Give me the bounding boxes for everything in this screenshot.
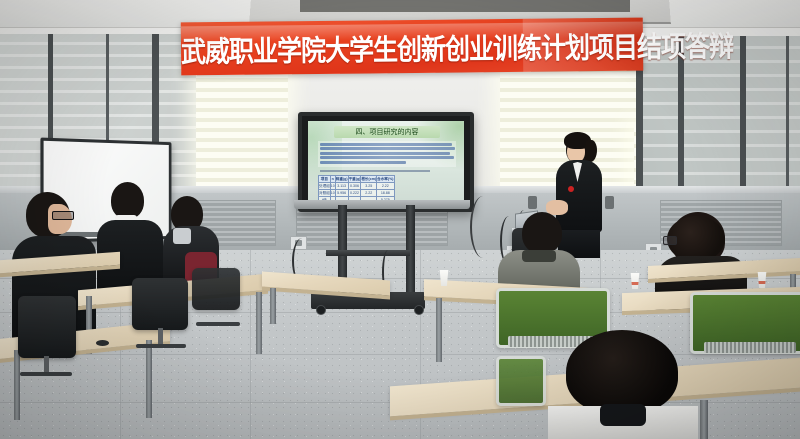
- table-header-cell: 鲜重(g): [335, 176, 348, 183]
- cable-grommet: [96, 340, 109, 346]
- chair-black-left[interactable]: [18, 296, 76, 358]
- chair-black-back[interactable]: [192, 268, 240, 310]
- presenter-ponytail: [585, 140, 597, 162]
- table-cell: 0.222: [348, 190, 361, 197]
- table-row: 处理组 10 3.113 0.306 3.25 2.22: [319, 183, 395, 190]
- table-cell: 2.22: [377, 183, 394, 190]
- table-header-row: 项目 n 鲜重(g) 干重(g) 根长(cm) 含水率(%): [319, 176, 395, 183]
- display-stand-shelf: [326, 250, 410, 256]
- banner-text: 武威职业学院大学生创新创业训练计划项目结项答辩: [181, 25, 643, 71]
- table-cell: 处理组: [319, 183, 331, 190]
- table-cell: 3.113: [335, 183, 348, 190]
- jacket-collar: [173, 228, 191, 244]
- table-cell: 3.25: [361, 183, 377, 190]
- table-cell: 5.956: [335, 190, 348, 197]
- table-leg: [436, 298, 442, 362]
- chair-black-mid[interactable]: [132, 278, 188, 330]
- slide-data-table: 项目 n 鲜重(g) 干重(g) 根长(cm) 含水率(%) 处理组 10 3.…: [318, 175, 395, 203]
- table-leg: [14, 350, 20, 420]
- chair-base: [136, 344, 186, 348]
- caster-wheel: [316, 305, 326, 315]
- table-header-cell: 项目: [319, 176, 331, 183]
- glasses-icon: [663, 236, 677, 245]
- presentation-display[interactable]: 四、项目研究的内容 项目 n 鲜重(g) 干重(g) 根长(cm) 含水率(%): [298, 112, 474, 212]
- head: [522, 212, 562, 254]
- table-leg: [256, 292, 262, 354]
- table-cell: 18.88: [377, 190, 394, 197]
- slide-screen: 四、项目研究的内容 项目 n 鲜重(g) 干重(g) 根长(cm) 含水率(%): [308, 121, 464, 203]
- chair-green-foreground[interactable]: [496, 356, 546, 406]
- caster-wheel: [414, 305, 424, 315]
- person-foreground: [548, 330, 698, 439]
- table-row: 对照组 10 5.956 0.222 2.22 18.88: [319, 190, 395, 197]
- table-header-cell: 干重(g): [348, 176, 361, 183]
- ceiling-recess: [300, 0, 630, 12]
- speaker: [528, 196, 537, 209]
- chair-base: [196, 322, 240, 326]
- jacket-collar: [522, 250, 556, 262]
- chair-base: [20, 372, 72, 376]
- table-cell: 2.22: [361, 190, 377, 197]
- slide-body-text: [318, 141, 456, 167]
- table-leg: [700, 400, 708, 439]
- head: [111, 182, 144, 219]
- av-cable: [470, 196, 496, 258]
- table-leg: [270, 288, 276, 324]
- chair-vent: [704, 342, 796, 353]
- slide-title: 四、项目研究的内容: [334, 126, 440, 138]
- shirt-collar: [600, 404, 646, 426]
- table-cell: 对照组: [319, 190, 331, 197]
- display-bottom-bezel: [294, 200, 470, 209]
- event-banner: 武威职业学院大学生创新创业训练计划项目结项答辩: [181, 18, 644, 76]
- table-header-cell: 根长(cm): [361, 176, 377, 183]
- table-leg: [146, 340, 152, 418]
- table-cell: 0.306: [348, 183, 361, 190]
- slide-caption-line: [320, 170, 430, 172]
- head: [566, 330, 678, 414]
- table-header-cell: 含水率(%): [377, 176, 394, 183]
- glasses-icon: [52, 211, 74, 220]
- classroom-defense-photo: 武威职业学院大学生创新创业训练计划项目结项答辩 四、项目研究的内容 项目 n: [0, 0, 800, 439]
- presenter-badge: [568, 186, 574, 192]
